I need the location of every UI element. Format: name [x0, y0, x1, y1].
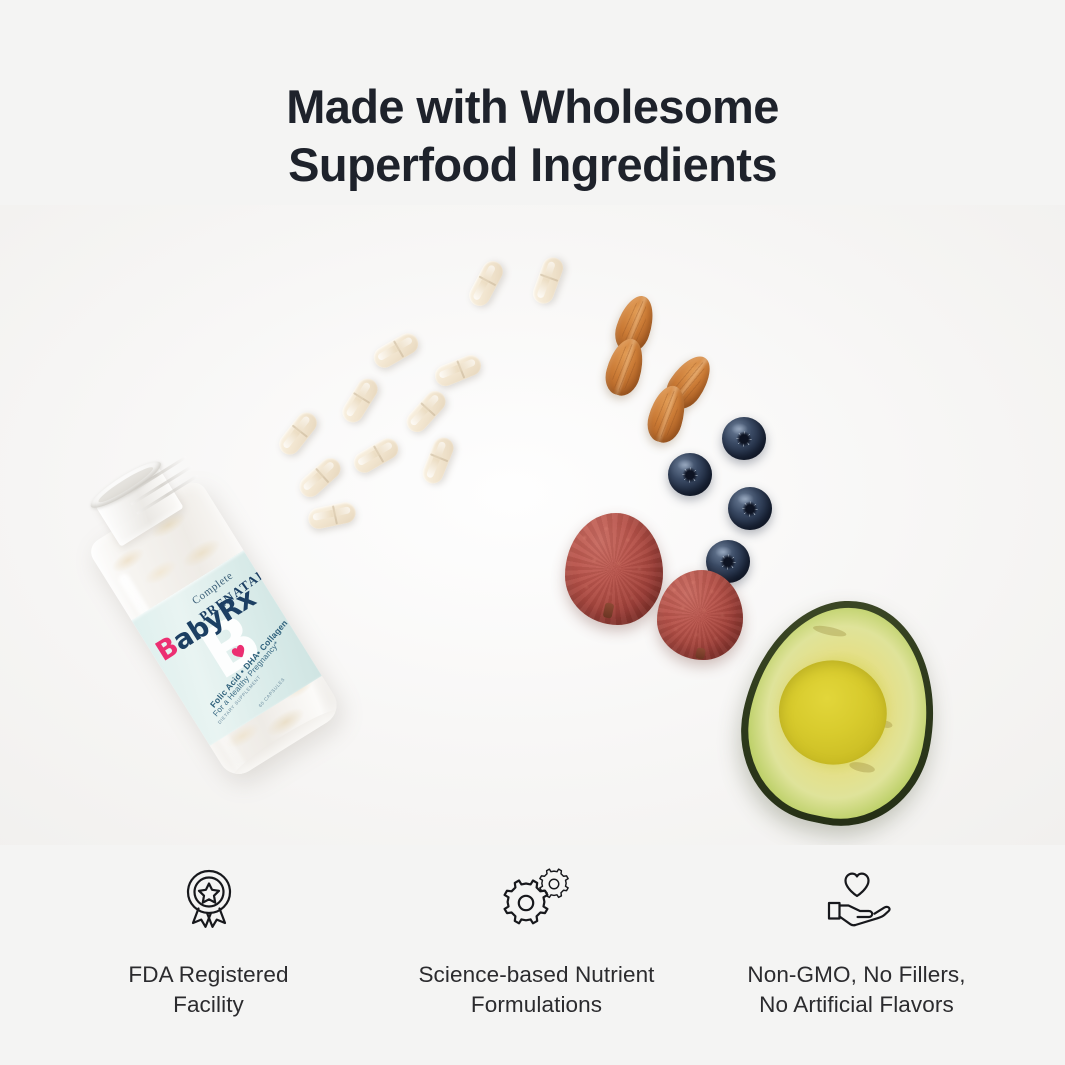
- feature-caption: FDA Registered Facility: [59, 960, 359, 1020]
- feature-caption-line-1: FDA Registered: [128, 962, 288, 987]
- capsule: [275, 408, 321, 459]
- supplement-bottle: B BabyRx Complete PRENATAL+ Folic Acid •…: [68, 449, 344, 782]
- capsule: [432, 352, 484, 389]
- lychee: [565, 513, 663, 625]
- capsule: [306, 500, 357, 531]
- feature-non-gmo: Non-GMO, No Fillers, No Artificial Flavo…: [707, 862, 1007, 1020]
- capsule: [370, 329, 422, 371]
- feature-caption-line-1: Non-GMO, No Fillers,: [747, 962, 965, 987]
- lychee: [657, 570, 743, 660]
- feature-science-based: Science-based Nutrient Formulations: [387, 862, 687, 1020]
- feature-caption-line-2: No Artificial Flavors: [759, 992, 954, 1017]
- award-badge-icon: [59, 862, 359, 938]
- capsule: [419, 434, 456, 486]
- blueberry: [722, 417, 766, 460]
- feature-caption: Non-GMO, No Fillers, No Artificial Flavo…: [707, 960, 1007, 1020]
- capsule: [530, 254, 566, 306]
- capsule: [338, 375, 381, 427]
- capsule: [402, 387, 450, 437]
- capsule: [350, 434, 402, 476]
- gears-icon: [387, 862, 687, 938]
- capsule: [465, 257, 506, 309]
- feature-fda-registered: FDA Registered Facility: [59, 862, 359, 1020]
- blueberry: [668, 453, 712, 496]
- page-title-line-1: Made with Wholesome: [286, 80, 779, 133]
- feature-caption-line-1: Science-based Nutrient: [418, 962, 654, 987]
- blueberry: [728, 487, 772, 530]
- avocado-half: [724, 583, 957, 843]
- product-marketing-image: Made with Wholesome Superfood Ingredient…: [0, 0, 1065, 1065]
- feature-caption-line-2: Formulations: [471, 992, 602, 1017]
- hand-heart-icon: [707, 862, 1007, 938]
- feature-row: FDA Registered Facility Science: [0, 862, 1065, 1020]
- page-title-line-2: Superfood Ingredients: [0, 136, 1065, 194]
- feature-caption: Science-based Nutrient Formulations: [387, 960, 687, 1020]
- capsule: [295, 454, 345, 502]
- page-title: Made with Wholesome Superfood Ingredient…: [0, 78, 1065, 194]
- product-photo: B BabyRx Complete PRENATAL+ Folic Acid •…: [0, 205, 1065, 845]
- feature-caption-line-2: Facility: [173, 992, 244, 1017]
